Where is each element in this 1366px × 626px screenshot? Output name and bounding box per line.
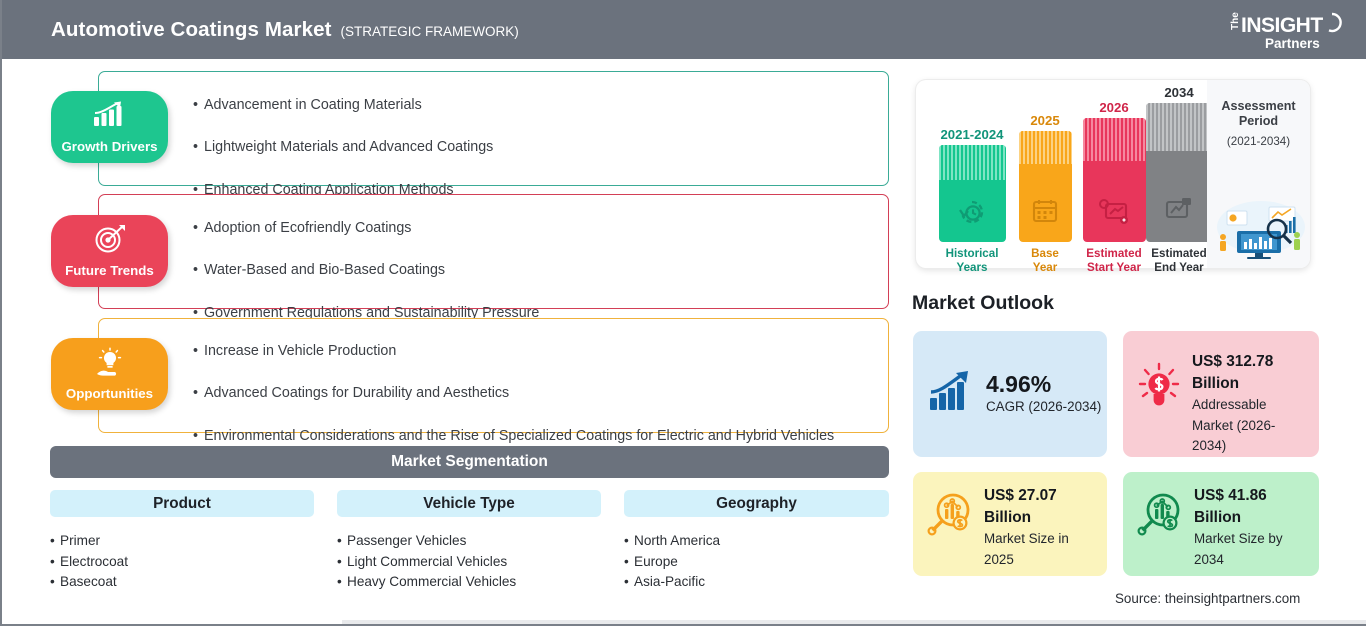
- list-item: •Electrocoat: [50, 552, 314, 573]
- list-item-label: Water-Based and Bio-Based Coatings: [204, 262, 445, 278]
- outlook-card-value: 4.96%: [986, 371, 1101, 397]
- outlook-card-text: 4.96% CAGR (2026-2034): [986, 371, 1101, 418]
- bar-caption: Historical Years: [936, 247, 1008, 274]
- list-item-label: Heavy Commercial Vehicles: [347, 574, 516, 589]
- list-item-label: Adoption of Ecofriendly Coatings: [204, 220, 411, 236]
- hand-lightbulb-icon: [90, 347, 130, 384]
- bar-year-label: 2025: [1011, 113, 1079, 128]
- outlook-card-market-size-2025[interactable]: US$ 27.07 Billion Market Size in 2025: [913, 472, 1107, 576]
- assessment-bar-historical: 2021-2024 Historical Years: [936, 127, 1008, 274]
- target-dart-icon: [92, 224, 128, 259]
- list-item: •Water-Based and Bio-Based Coatings: [193, 263, 539, 277]
- outlook-card-label: Market Size in 2025: [984, 529, 1102, 570]
- segmentation-column-geography: Geography •North America •Europe •Asia-P…: [624, 490, 889, 593]
- list-item-label: Advanced Coatings for Durability and Aes…: [204, 385, 509, 401]
- list-item-label: Advancement in Coating Materials: [204, 97, 422, 113]
- magnifier-bar-chart-icon: [927, 491, 973, 542]
- list-item-label: Light Commercial Vehicles: [347, 554, 507, 569]
- outlook-card-value: US$ 312.78 Billion: [1192, 351, 1308, 395]
- market-outlook-title: Market Outlook: [912, 292, 1054, 315]
- segment-items-vehicle-type: •Passenger Vehicles •Light Commercial Ve…: [337, 531, 601, 593]
- list-item: •Europe: [624, 552, 889, 573]
- svg-text:The: The: [1230, 12, 1241, 30]
- assessment-period-range: (2021-2034): [1207, 135, 1310, 148]
- outlook-card-addressable-market[interactable]: US$ 312.78 Billion Addressable Market (2…: [1123, 331, 1319, 457]
- bar-caption: Estimated End Year: [1142, 247, 1216, 274]
- bar-stripe-top: [1146, 103, 1212, 151]
- segment-pill-geography[interactable]: Geography: [624, 490, 889, 517]
- insight-partners-logo: The INSIGHT Partners: [1221, 8, 1346, 52]
- panel-future-trends: •Adoption of Ecofriendly Coatings •Water…: [98, 194, 889, 309]
- svg-text:INSIGHT: INSIGHT: [1241, 14, 1323, 37]
- market-segmentation-header: Market Segmentation: [50, 446, 889, 478]
- calendar-icon: [1031, 197, 1059, 230]
- outlook-card-label: Market Size by 2034: [1194, 529, 1312, 570]
- presentation-screen-icon: [1164, 195, 1194, 228]
- assessment-period-summary: Assessment Period (2021-2034): [1207, 80, 1310, 268]
- page-subtitle: (STRATEGIC FRAMEWORK): [341, 24, 519, 39]
- list-item: •Primer: [50, 531, 314, 552]
- bar-shape: [1083, 118, 1146, 242]
- list-item: •Passenger Vehicles: [337, 531, 601, 552]
- list-item-label: Europe: [634, 554, 678, 569]
- list-item: •Advancement in Coating Materials: [193, 98, 493, 112]
- segmentation-column-vehicle-type: Vehicle Type •Passenger Vehicles •Light …: [337, 490, 601, 593]
- bar-caption: Base Year: [1011, 247, 1079, 274]
- bar-caption: Estimated Start Year: [1076, 247, 1152, 274]
- list-item-label: Primer: [60, 533, 100, 548]
- list-item-label: Basecoat: [60, 574, 117, 589]
- list-item: •Increase in Vehicle Production: [193, 344, 834, 358]
- list-item: •Lightweight Materials and Advanced Coat…: [193, 140, 493, 154]
- source-attribution: Source: theinsightpartners.com: [1115, 591, 1300, 606]
- outlook-card-value: US$ 41.86 Billion: [1194, 485, 1312, 529]
- infographic-canvas: Automotive Coatings Market (STRATEGIC FR…: [0, 0, 1366, 626]
- list-item-label: Lightweight Materials and Advanced Coati…: [204, 139, 493, 155]
- segment-pill-product[interactable]: Product: [50, 490, 314, 517]
- badge-label: Opportunities: [66, 386, 153, 410]
- analytics-dashboard-illustration: [1211, 197, 1307, 264]
- list-item-label: North America: [634, 533, 720, 548]
- list-item: •Advanced Coatings for Durability and Ae…: [193, 386, 834, 400]
- list-item: •Heavy Commercial Vehicles: [337, 572, 601, 593]
- growth-drivers-list: •Advancement in Coating Materials •Light…: [193, 98, 493, 197]
- assessment-bar-base: 2025 Base Year: [1011, 113, 1079, 274]
- market-segmentation-title: Market Segmentation: [391, 453, 548, 471]
- opportunities-list: •Increase in Vehicle Production •Advance…: [193, 344, 834, 443]
- assessment-bar-estimated-end: 2034 Estimated End Year: [1142, 85, 1216, 274]
- list-item-label: Environmental Considerations and the Ris…: [204, 428, 834, 444]
- list-item: •Asia-Pacific: [624, 572, 889, 593]
- outlook-card-text: US$ 312.78 Billion Addressable Market (2…: [1192, 351, 1308, 457]
- panel-opportunities: •Increase in Vehicle Production •Advance…: [98, 318, 889, 433]
- outlook-card-cagr[interactable]: 4.96% CAGR (2026-2034): [913, 331, 1107, 457]
- bar-stripe-top: [939, 145, 1006, 180]
- bar-chart-arrow-icon: [927, 370, 975, 419]
- lightbulb-dollar-icon: [1137, 362, 1181, 413]
- outlook-card-label: CAGR (2026-2034): [986, 397, 1101, 418]
- segment-items-product: •Primer •Electrocoat •Basecoat: [50, 531, 314, 593]
- segment-pill-label: Product: [153, 495, 211, 513]
- assessment-period-panel: 2021-2024 Historical Years 2025: [916, 80, 1310, 268]
- panel-growth-drivers: •Advancement in Coating Materials •Light…: [98, 71, 889, 186]
- bar-shape: [1019, 131, 1072, 242]
- assessment-bar-estimated-start: 2026 Estimated Start Year: [1076, 100, 1152, 274]
- page-title: Automotive Coatings Market: [51, 18, 332, 42]
- list-item-label: Passenger Vehicles: [347, 533, 466, 548]
- magnifier-bar-chart-icon: [1137, 491, 1183, 542]
- badge-label: Future Trends: [65, 263, 154, 287]
- outlook-card-text: US$ 27.07 Billion Market Size in 2025: [984, 485, 1102, 570]
- badge-label: Growth Drivers: [61, 139, 157, 163]
- bar-year-label: 2034: [1142, 85, 1216, 100]
- header-title-group: Automotive Coatings Market (STRATEGIC FR…: [51, 18, 519, 42]
- segment-pill-vehicle-type[interactable]: Vehicle Type: [337, 490, 601, 517]
- chart-monitor-icon: [1098, 198, 1130, 231]
- list-item-label: Electrocoat: [60, 554, 128, 569]
- bar-shape: [1146, 103, 1212, 242]
- badge-growth-drivers[interactable]: Growth Drivers: [51, 91, 168, 163]
- segment-pill-label: Geography: [716, 495, 797, 513]
- bar-stripe-top: [1019, 131, 1072, 164]
- future-trends-list: •Adoption of Ecofriendly Coatings •Water…: [193, 221, 539, 320]
- outlook-card-market-size-2034[interactable]: US$ 41.86 Billion Market Size by 2034: [1123, 472, 1319, 576]
- list-item: •Adoption of Ecofriendly Coatings: [193, 221, 539, 235]
- svg-text:Partners: Partners: [1265, 36, 1320, 51]
- segmentation-column-product: Product •Primer •Electrocoat •Basecoat: [50, 490, 314, 593]
- list-item: •Environmental Considerations and the Ri…: [193, 429, 834, 443]
- list-item-label: Asia-Pacific: [634, 574, 705, 589]
- bar-year-label: 2021-2024: [936, 127, 1008, 142]
- list-item-label: Increase in Vehicle Production: [204, 343, 396, 359]
- bar-shape: [939, 145, 1006, 242]
- list-item: •Basecoat: [50, 572, 314, 593]
- bar-chart-growth-icon: [90, 100, 130, 135]
- outlook-card-value: US$ 27.07 Billion: [984, 485, 1102, 529]
- badge-opportunities[interactable]: Opportunities: [51, 338, 168, 410]
- badge-future-trends[interactable]: Future Trends: [51, 215, 168, 287]
- bar-stripe-top: [1083, 118, 1146, 161]
- list-item: •North America: [624, 531, 889, 552]
- bar-year-label: 2026: [1076, 100, 1152, 115]
- outlook-card-label: Addressable Market (2026-2034): [1192, 395, 1308, 457]
- horizontal-scrollbar[interactable]: [342, 620, 1366, 624]
- outlook-card-text: US$ 41.86 Billion Market Size by 2034: [1194, 485, 1312, 570]
- list-item: •Light Commercial Vehicles: [337, 552, 601, 573]
- history-clock-icon: [957, 197, 987, 232]
- assessment-period-title: Assessment Period: [1207, 99, 1310, 129]
- page-header: Automotive Coatings Market (STRATEGIC FR…: [2, 0, 1366, 59]
- segment-pill-label: Vehicle Type: [423, 495, 515, 513]
- segment-items-geography: •North America •Europe •Asia-Pacific: [624, 531, 889, 593]
